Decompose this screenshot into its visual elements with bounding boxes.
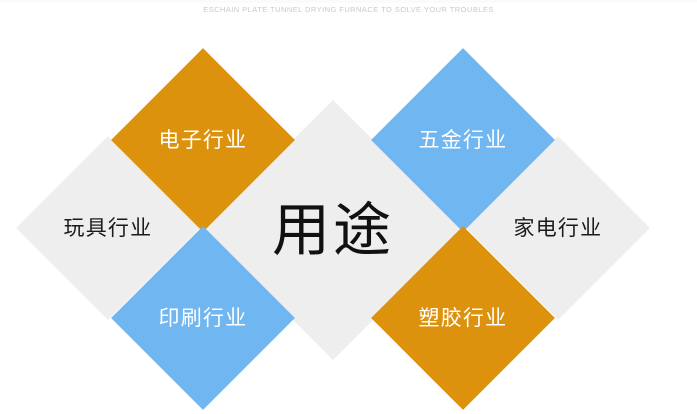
diamond-hardware-label: 五金行业 bbox=[419, 130, 508, 151]
diamond-plastics-label: 塑胶行业 bbox=[419, 308, 508, 329]
infographic-stage: ESCHAIN PLATE TUNNEL DRYING FURNACE TO S… bbox=[0, 0, 697, 414]
header-tagline: ESCHAIN PLATE TUNNEL DRYING FURNACE TO S… bbox=[0, 5, 697, 14]
top-banner-strip bbox=[0, 0, 697, 3]
center-label: 用途 bbox=[272, 201, 394, 259]
diamond-printing-label: 印刷行业 bbox=[159, 308, 248, 329]
diamond-toys-label: 玩具行业 bbox=[64, 218, 153, 239]
diamond-appliance-label: 家电行业 bbox=[514, 218, 603, 239]
diamond-electronics-label: 电子行业 bbox=[159, 130, 248, 151]
